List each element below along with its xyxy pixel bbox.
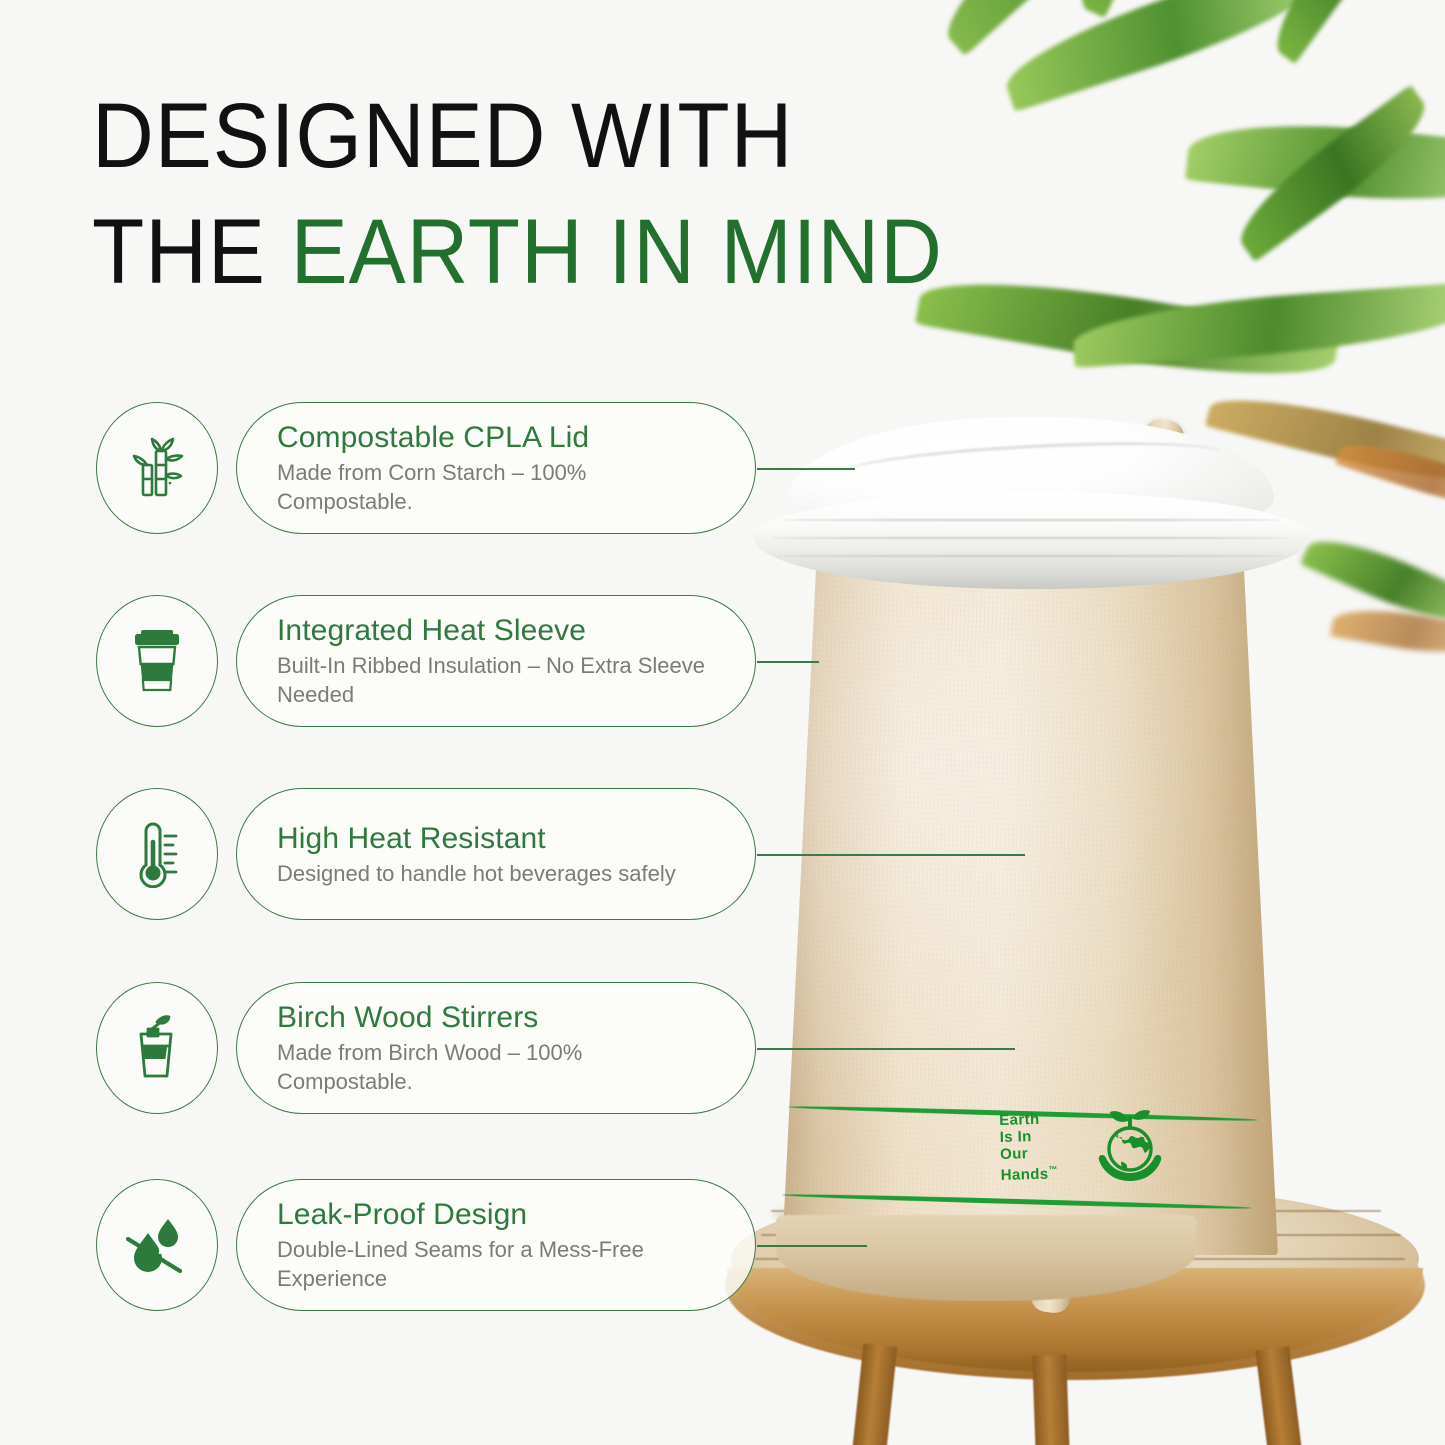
connector-line-2 [757, 661, 819, 663]
connector-line-4 [757, 1048, 1015, 1050]
feature-row-compostable-lid[interactable]: Compostable CPLA Lid Made from Corn Star… [96, 402, 756, 534]
infographic-canvas: Earth Is In Our Hands™ [0, 0, 1445, 1445]
feature-pill-1: Compostable CPLA Lid Made from Corn Star… [236, 402, 756, 534]
feature-row-heat-sleeve[interactable]: Integrated Heat Sleeve Built-In Ribbed I… [96, 595, 756, 727]
coffee-cup-icon-badge [96, 595, 218, 727]
feature-row-birch-stirrers[interactable]: Birch Wood Stirrers Made from Birch Wood… [96, 982, 756, 1114]
sugarcane-icon-badge [96, 402, 218, 534]
feature-subtitle-4: Made from Birch Wood – 100% Compostable. [277, 1038, 717, 1096]
connector-line-1 [757, 468, 855, 470]
thermometer-icon-badge [96, 788, 218, 920]
feature-title-3: High Heat Resistant [277, 821, 719, 857]
feature-row-heat-resistant[interactable]: High Heat Resistant Designed to handle h… [96, 788, 756, 920]
page-title: DESIGNED WITH THE EARTH IN MIND [92, 78, 1152, 310]
feature-pill-5: Leak-Proof Design Double-Lined Seams for… [236, 1179, 756, 1311]
headline-line-2-black: THE [92, 201, 291, 303]
feature-subtitle-2: Built-In Ribbed Insulation – No Extra Sl… [277, 651, 717, 709]
connector-line-3 [757, 854, 1025, 856]
thermometer-icon [129, 820, 185, 888]
headline-line-2-green: EARTH IN MIND [291, 201, 943, 303]
feature-pill-3: High Heat Resistant Designed to handle h… [236, 788, 756, 920]
feature-title-2: Integrated Heat Sleeve [277, 613, 719, 649]
feature-row-leak-proof[interactable]: Leak-Proof Design Double-Lined Seams for… [96, 1179, 756, 1311]
feature-title-5: Leak-Proof Design [277, 1197, 719, 1233]
infographic-overlay: DESIGNED WITH THE EARTH IN MIND [0, 0, 1445, 1445]
feature-title-4: Birch Wood Stirrers [277, 1000, 719, 1036]
feature-title-1: Compostable CPLA Lid [277, 420, 719, 456]
sugarcane-icon [126, 435, 188, 501]
headline-line-1: DESIGNED WITH [92, 78, 1078, 194]
no-leak-droplet-icon [124, 1213, 190, 1277]
feature-subtitle-1: Made from Corn Starch – 100% Compostable… [277, 458, 717, 516]
drink-stirrer-icon-badge [96, 982, 218, 1114]
drink-stirrer-icon [128, 1014, 186, 1082]
feature-pill-2: Integrated Heat Sleeve Built-In Ribbed I… [236, 595, 756, 727]
coffee-cup-icon [128, 628, 186, 694]
feature-subtitle-5: Double-Lined Seams for a Mess-Free Exper… [277, 1235, 717, 1293]
no-leak-droplet-icon-badge [96, 1179, 218, 1311]
feature-pill-4: Birch Wood Stirrers Made from Birch Wood… [236, 982, 756, 1114]
connector-line-5 [757, 1245, 867, 1247]
headline-line-2: THE EARTH IN MIND [92, 194, 1078, 310]
feature-subtitle-3: Designed to handle hot beverages safely [277, 859, 717, 888]
